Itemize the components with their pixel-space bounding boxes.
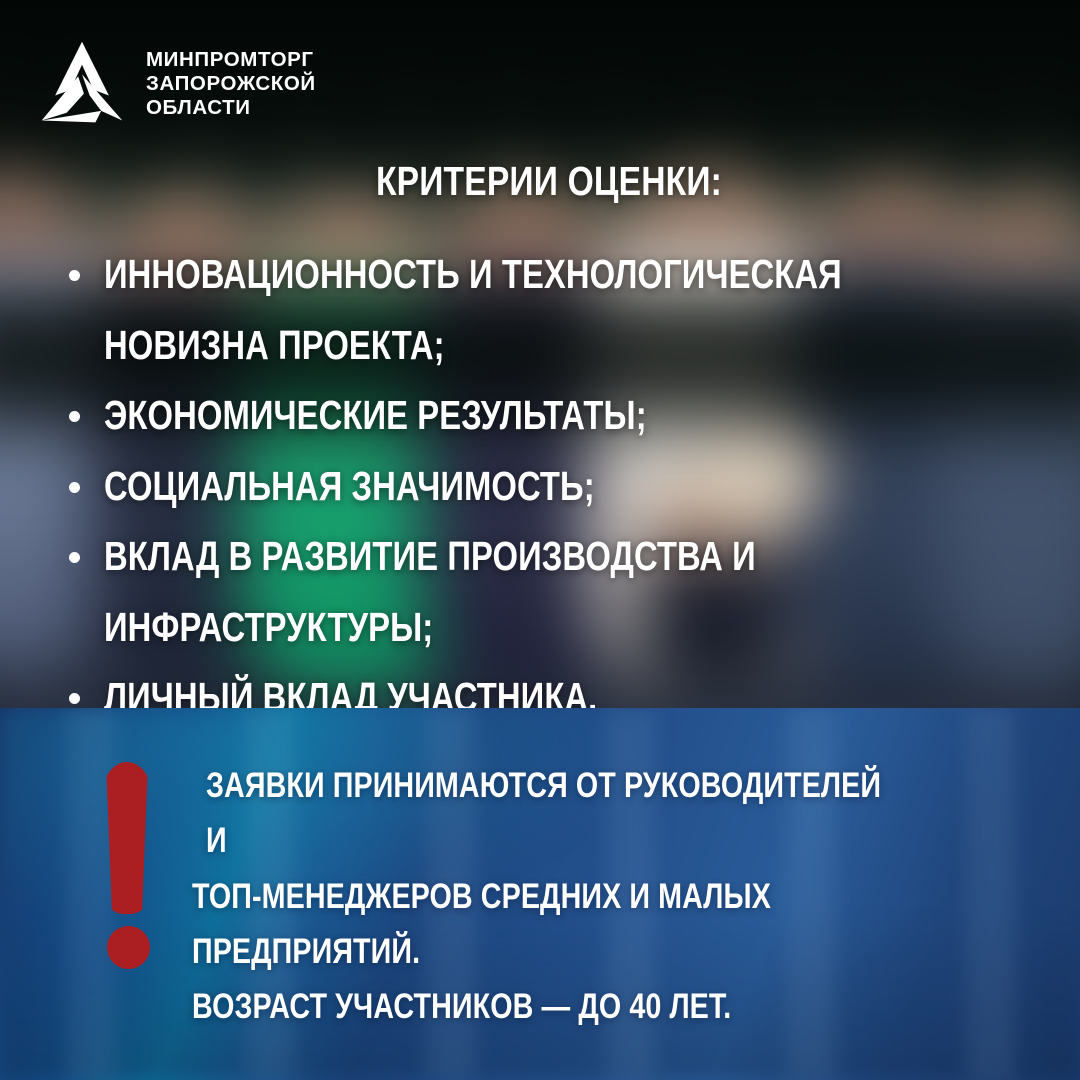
brand-name-line1: МИНПРОМТОРГ (146, 48, 316, 72)
poster-canvas: МИНПРОМТОРГ ЗАПОРОЖСКОЙ ОБЛАСТИ КРИТЕРИИ… (0, 0, 1080, 1080)
notice-content: ЗАЯВКИ ПРИНИМАЮТСЯ ОТ РУКОВОДИТЕЛЕЙ И ТО… (0, 708, 1080, 1034)
criteria-section: КРИТЕРИИ ОЦЕНКИ: ИННОВАЦИОННОСТЬ И ТЕХНО… (0, 160, 1080, 733)
brand-name-line2: ЗАПОРОЖСКОЙ (146, 72, 316, 96)
triangle-arrow-logo-icon (34, 36, 130, 132)
notice-line-1-text: ЗАЯВКИ ПРИНИМАЮТСЯ ОТ РУКОВОДИТЕЛЕЙ И (206, 758, 890, 869)
notice-line-3: ВОЗРАСТ УЧАСТНИКОВ — ДО 40 ЛЕТ. (192, 979, 1040, 1034)
notice-line-2-text: ТОП-МЕНЕДЖЕРОВ СРЕДНИХ И МАЛЫХ ПРЕДПРИЯТ… (192, 869, 887, 980)
criteria-item-text: ЭКОНОМИЧЕСКИЕ РЕЗУЛЬТАТЫ; (104, 380, 647, 451)
criteria-title: КРИТЕРИИ ОЦЕНКИ: (146, 160, 951, 203)
criteria-list-item: ИННОВАЦИОННОСТЬ И ТЕХНОЛОГИЧЕСКАЯ НОВИЗН… (58, 239, 1040, 380)
notice-text: ЗАЯВКИ ПРИНИМАЮТСЯ ОТ РУКОВОДИТЕЛЕЙ И ТО… (192, 754, 1040, 1034)
criteria-item-text: ИННОВАЦИОННОСТЬ И ТЕХНОЛОГИЧЕСКАЯ НОВИЗН… (104, 239, 853, 380)
exclamation-stem (102, 762, 152, 914)
criteria-item-text: ВКЛАД В РАЗВИТИЕ ПРОИЗВОДСТВА И ИНФРАСТР… (104, 521, 853, 662)
exclamation-mark-icon (96, 754, 166, 984)
exclamation-dot (107, 926, 150, 969)
criteria-item-text: СОЦИАЛЬНАЯ ЗНАЧИМОСТЬ; (104, 451, 595, 522)
notice-line-2: ТОП-МЕНЕДЖЕРОВ СРЕДНИХ И МАЛЫХ ПРЕДПРИЯТ… (192, 869, 1040, 980)
notice-line-3-text: ВОЗРАСТ УЧАСТНИКОВ — ДО 40 ЛЕТ. (192, 979, 731, 1034)
notice-panel: ЗАЯВКИ ПРИНИМАЮТСЯ ОТ РУКОВОДИТЕЛЕЙ И ТО… (0, 708, 1080, 1080)
brand-header: МИНПРОМТОРГ ЗАПОРОЖСКОЙ ОБЛАСТИ (34, 36, 316, 132)
criteria-list-item: СОЦИАЛЬНАЯ ЗНАЧИМОСТЬ; (58, 451, 1040, 522)
notice-line-1: ЗАЯВКИ ПРИНИМАЮТСЯ ОТ РУКОВОДИТЕЛЕЙ И (192, 758, 1040, 869)
brand-name: МИНПРОМТОРГ ЗАПОРОЖСКОЙ ОБЛАСТИ (146, 48, 316, 119)
criteria-list-item: ЭКОНОМИЧЕСКИЕ РЕЗУЛЬТАТЫ; (58, 380, 1040, 451)
criteria-list-item: ВКЛАД В РАЗВИТИЕ ПРОИЗВОДСТВА И ИНФРАСТР… (58, 521, 1040, 662)
brand-name-line3: ОБЛАСТИ (146, 96, 316, 120)
criteria-list: ИННОВАЦИОННОСТЬ И ТЕХНОЛОГИЧЕСКАЯ НОВИЗН… (58, 239, 1040, 733)
